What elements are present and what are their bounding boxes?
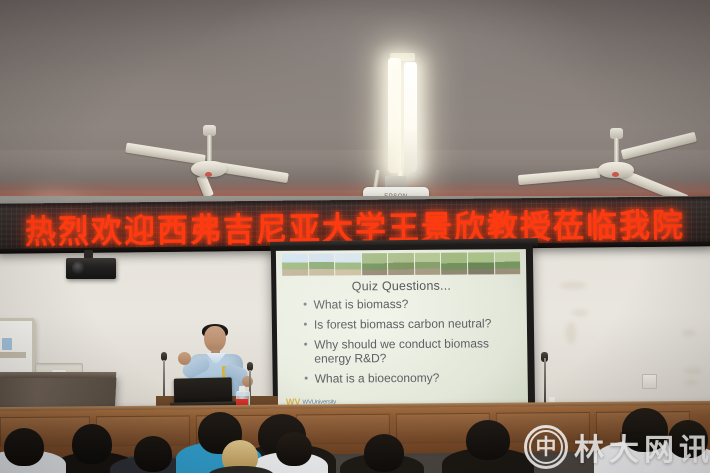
fan-indicator-light [612, 172, 619, 177]
filmstrip-thumbnail [441, 253, 467, 275]
audience-head [466, 420, 510, 460]
pendant-tube-1 [388, 58, 401, 173]
whiteboard-marker-tray [0, 352, 26, 358]
ceiling-fan-left [185, 125, 335, 185]
wall-mounted-speaker [66, 258, 116, 279]
pendant-tube-2 [404, 62, 417, 172]
audience-head [72, 424, 112, 464]
filmstrip-thumbnail [494, 252, 520, 274]
filmstrip-thumbnail [335, 253, 361, 275]
slide-filmstrip-banner [282, 252, 520, 276]
watermark-logo-icon: 中 [524, 425, 568, 469]
filmstrip-thumbnail [362, 253, 388, 275]
filmstrip-thumbnail [388, 253, 414, 275]
slide-title: Quiz Questions... [276, 278, 526, 294]
audience-head [134, 436, 172, 472]
bottle-cap [239, 386, 245, 392]
audience-head [364, 434, 404, 472]
wall-mark [566, 322, 576, 344]
slide-bullet: What is a bioeconomy? [304, 370, 520, 386]
watermark: 中 林大网讯 [524, 421, 710, 473]
wall-mark [684, 380, 698, 385]
filmstrip-thumbnail [282, 254, 308, 276]
watermark-logo-glyph: 中 [524, 425, 568, 469]
fan-indicator-light [205, 172, 212, 177]
whiteboard-note [2, 338, 12, 350]
speaker-cone [72, 261, 86, 275]
fan-downrod [207, 135, 212, 163]
wall-mark [572, 310, 588, 316]
filmstrip-thumbnail [308, 253, 334, 275]
slide-bullet: What is biomass? [303, 296, 519, 312]
wall-light-switch[interactable] [642, 374, 657, 389]
ceiling-fan-right [580, 128, 710, 188]
wall-mark [560, 282, 586, 289]
projection-screen-surface: Quiz Questions... What is biomass? Is fo… [276, 249, 528, 411]
wall-mark [682, 330, 696, 336]
fan-blade [621, 132, 697, 160]
audience-head [4, 428, 44, 466]
wall-mark [684, 368, 702, 374]
slide-bullet: Why should we conduct biomass energy R&D… [303, 336, 519, 366]
audience-head [276, 432, 312, 466]
fan-downrod [614, 138, 619, 164]
presenter-laptop[interactable] [174, 377, 233, 404]
filmstrip-thumbnail [415, 253, 441, 275]
presenter-left-hand [178, 352, 191, 365]
lecture-hall-photo: EPSON 热烈欢迎西弗吉尼亚大学王景欣教授莅临我院 [0, 0, 710, 473]
slide-bullet-list: What is biomass? Is forest biomass carbo… [303, 296, 520, 391]
filmstrip-thumbnail [468, 252, 494, 274]
pendant-fluorescent-light-center [388, 58, 418, 178]
projection-screen-frame: Quiz Questions... What is biomass? Is fo… [271, 244, 535, 418]
slide-bullet: Is forest biomass carbon neutral? [303, 316, 519, 332]
watermark-text: 林大网讯 [574, 425, 710, 469]
